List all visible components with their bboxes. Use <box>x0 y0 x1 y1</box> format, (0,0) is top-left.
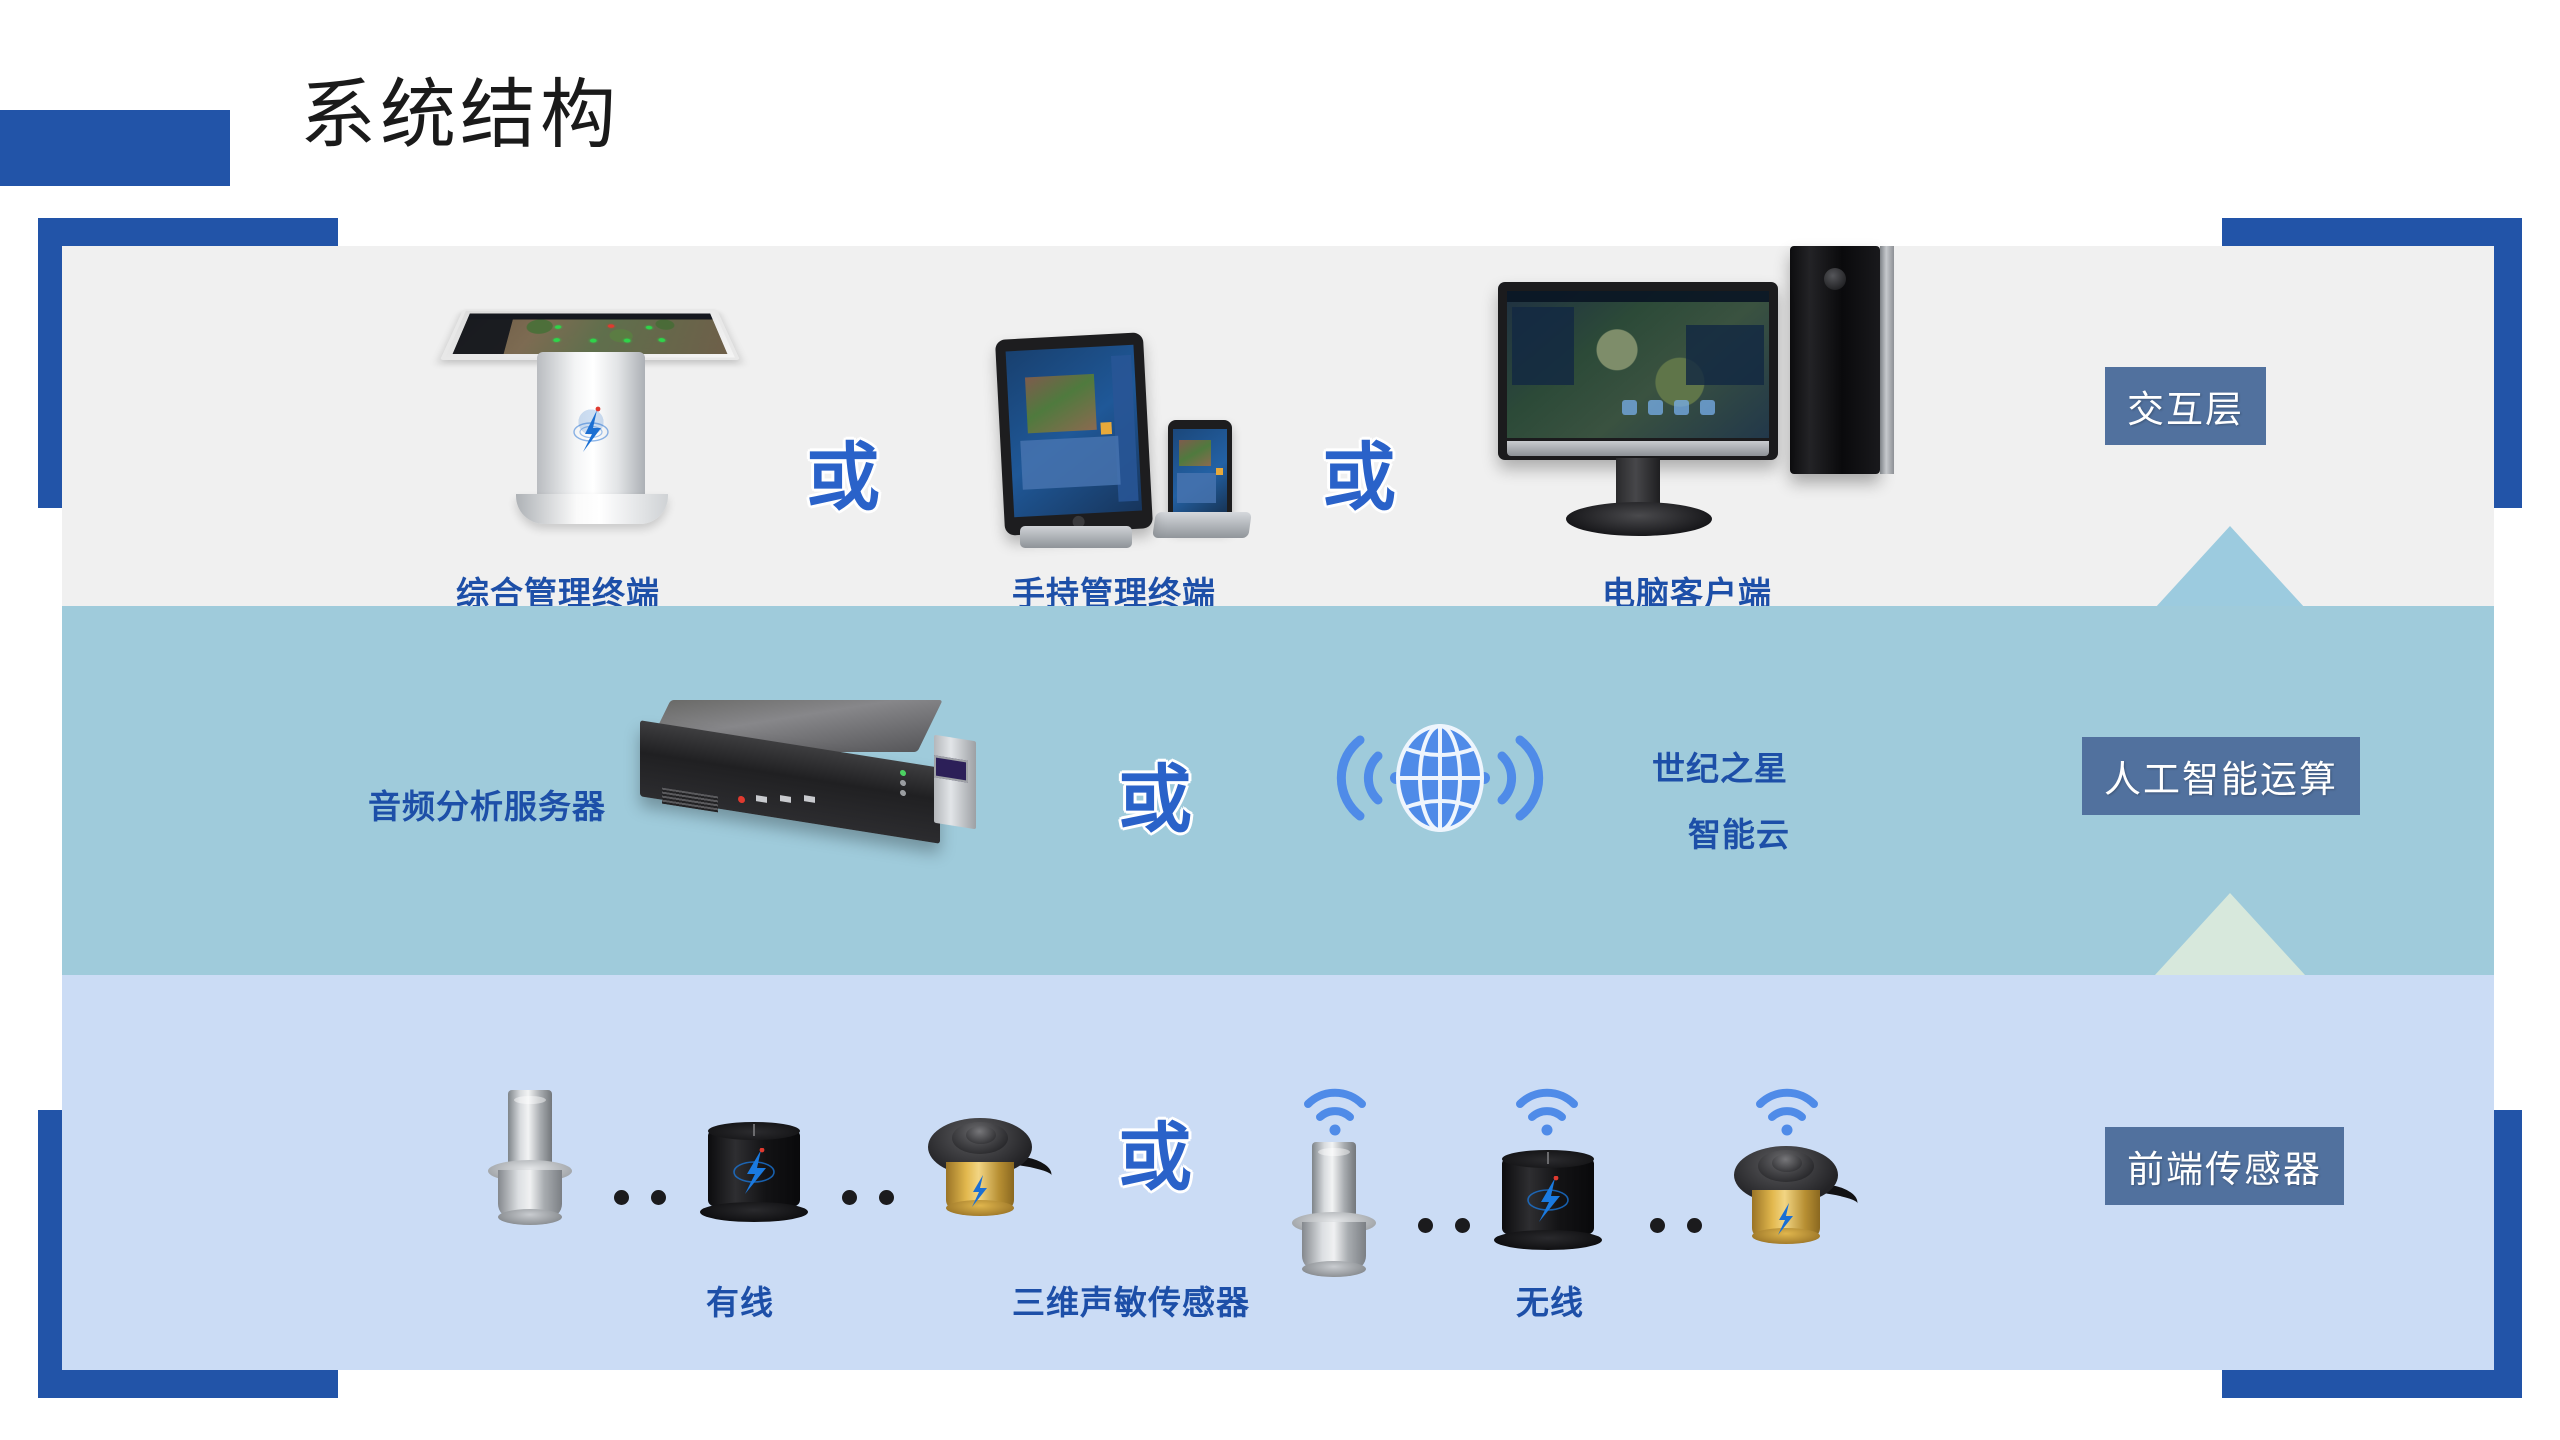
connector-dots-3 <box>1418 1218 1470 1233</box>
layer-badge-ai: 人工智能运算 <box>2082 737 2360 815</box>
connector-dots-1 <box>614 1190 666 1205</box>
bracket-top-right-horizontal <box>2222 218 2522 246</box>
brand-logo-icon <box>964 1174 992 1208</box>
separator-or-1: 或 <box>806 418 880 525</box>
sensor-silver-wireless-icon <box>1288 1142 1380 1278</box>
sensor-gold-wireless-icon <box>1730 1146 1850 1250</box>
tablet-phone-icon <box>992 336 1262 566</box>
sensor-black-wired-icon <box>700 1118 808 1226</box>
brand-logo-icon <box>727 1148 781 1196</box>
brand-logo-icon <box>1521 1176 1575 1224</box>
page-title: 系统结构 <box>300 78 620 154</box>
bracket-top-left-horizontal <box>38 218 338 246</box>
sensor-silver-wired-icon <box>484 1090 576 1226</box>
bracket-top-right-vertical <box>2494 218 2522 508</box>
caption-wireless: 无线 <box>1516 1276 1584 1324</box>
kiosk-terminal-icon <box>432 262 752 562</box>
title-accent-block <box>0 110 230 186</box>
caption-cloud-name-line1: 世纪之星 <box>1652 742 1788 790</box>
separator-or-4: 或 <box>1118 1098 1192 1205</box>
layer-up-arrow-1 <box>2155 526 2305 608</box>
wifi-icon <box>1512 1084 1582 1138</box>
layer-badge-interaction: 交互层 <box>2105 367 2266 445</box>
wifi-icon <box>1300 1084 1370 1138</box>
sensor-black-wireless-icon <box>1494 1146 1602 1254</box>
desktop-computer-icon <box>1498 282 1918 552</box>
caption-wired: 有线 <box>706 1276 774 1324</box>
separator-or-2: 或 <box>1322 418 1396 525</box>
layer-up-arrow-2 <box>2155 893 2305 975</box>
bracket-bottom-right-vertical <box>2494 1110 2522 1398</box>
bracket-bottom-right-horizontal <box>2222 1370 2522 1398</box>
brand-logo-icon <box>1770 1202 1798 1236</box>
caption-audio-analysis-server: 音频分析服务器 <box>368 780 606 828</box>
rack-server-icon <box>640 700 970 840</box>
connector-dots-2 <box>842 1190 894 1205</box>
sensor-gold-wired-icon <box>924 1118 1044 1222</box>
layer-badge-sensors: 前端传感器 <box>2105 1127 2344 1205</box>
bracket-bottom-left-horizontal <box>38 1370 338 1398</box>
cloud-globe-icon <box>1300 718 1580 838</box>
caption-cloud-name-line2: 智能云 <box>1688 808 1790 856</box>
wifi-icon <box>1752 1084 1822 1138</box>
caption-3d-acoustic-sensor: 三维声敏传感器 <box>1012 1276 1250 1324</box>
separator-or-3: 或 <box>1118 740 1192 847</box>
brand-logo-icon <box>567 404 615 456</box>
connector-dots-4 <box>1650 1218 1702 1233</box>
